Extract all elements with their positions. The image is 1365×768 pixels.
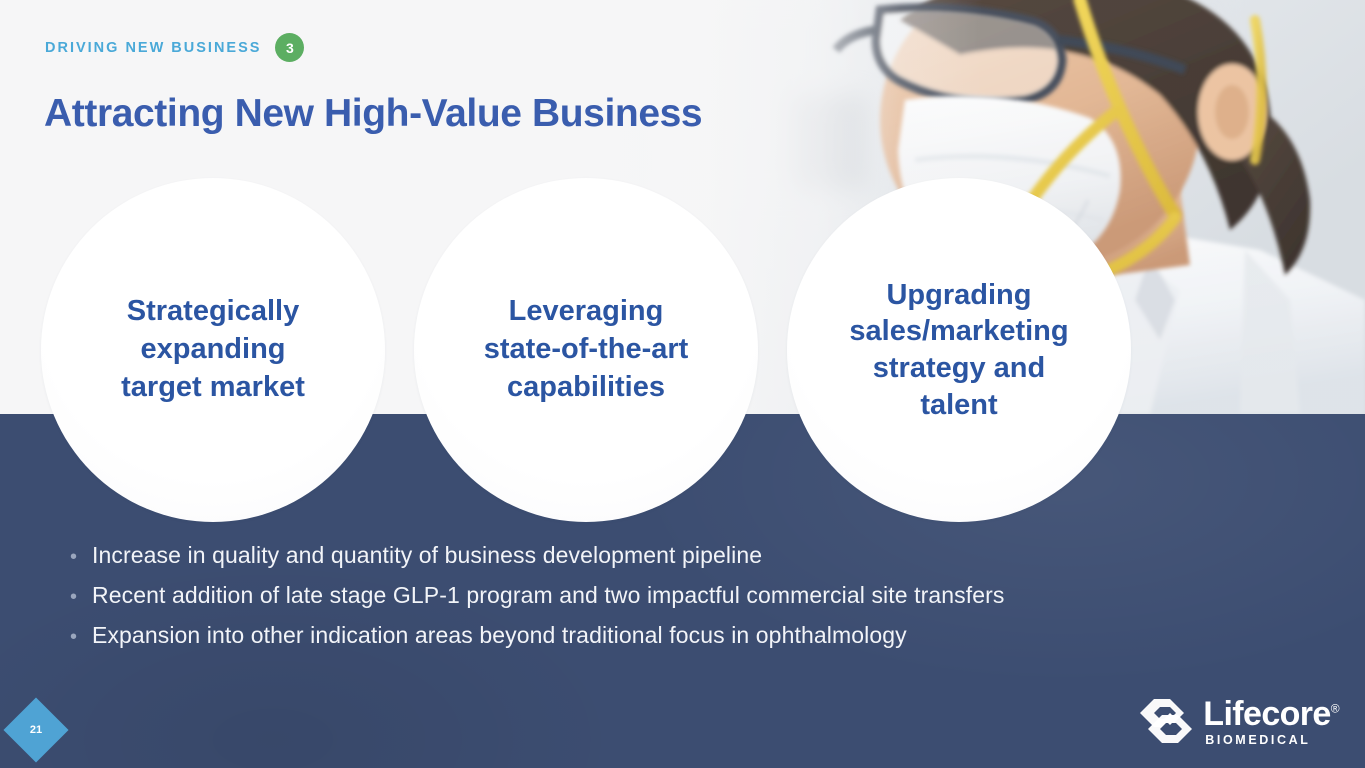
pillar-circle-1-label: Strategically expanding target market	[103, 293, 323, 406]
bullet-dot-icon: •	[70, 547, 92, 567]
pillar-circle-3-label: Upgrading sales/marketing strategy and t…	[831, 277, 1086, 423]
bullet-item: • Increase in quality and quantity of bu…	[70, 541, 1270, 569]
bullet-list: • Increase in quality and quantity of bu…	[70, 541, 1270, 661]
bullet-item: • Expansion into other indication areas …	[70, 621, 1270, 649]
pillar-circle-3[interactable]: Upgrading sales/marketing strategy and t…	[787, 178, 1131, 522]
logo-subtitle: BIOMEDICAL	[1205, 734, 1339, 747]
bullet-text: Increase in quality and quantity of busi…	[92, 541, 762, 569]
logo-word-text: Lifecore	[1203, 695, 1330, 733]
logo-text: Lifecore® BIOMEDICAL	[1203, 697, 1339, 747]
eyebrow-row: DRIVING NEW BUSINESS 3	[45, 33, 304, 62]
bullet-text: Recent addition of late stage GLP-1 prog…	[92, 581, 1005, 609]
slide: DRIVING NEW BUSINESS 3 Attracting New Hi…	[0, 0, 1365, 768]
section-number-badge: 3	[275, 33, 304, 62]
company-logo: Lifecore® BIOMEDICAL	[1140, 697, 1339, 747]
bullet-dot-icon: •	[70, 587, 92, 607]
bullet-text: Expansion into other indication areas be…	[92, 621, 907, 649]
lifecore-diamond-icon	[1140, 697, 1192, 745]
bullet-item: • Recent addition of late stage GLP-1 pr…	[70, 581, 1270, 609]
page-number: 21	[13, 707, 59, 753]
logo-registered-mark: ®	[1331, 701, 1339, 715]
pillar-circle-2-label: Leveraging state-of-the-art capabilities	[466, 293, 707, 406]
pillar-circle-1[interactable]: Strategically expanding target market	[41, 178, 385, 522]
logo-wordmark: Lifecore®	[1203, 697, 1339, 731]
bullet-dot-icon: •	[70, 627, 92, 647]
page-title: Attracting New High-Value Business	[44, 92, 702, 136]
section-eyebrow: DRIVING NEW BUSINESS	[45, 40, 261, 56]
pillar-circle-2[interactable]: Leveraging state-of-the-art capabilities	[414, 178, 758, 522]
